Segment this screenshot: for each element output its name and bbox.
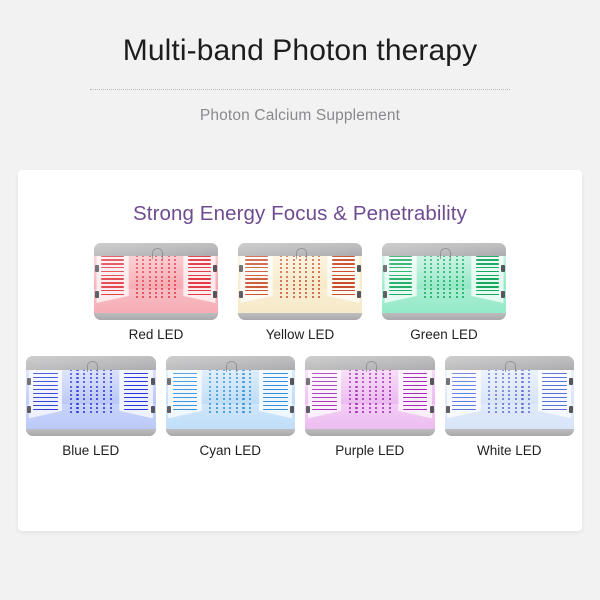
- header-divider: [90, 89, 510, 90]
- led-row-top: Red LEDYellow LEDGreen LED: [18, 243, 582, 342]
- right-wing-leds: [403, 369, 427, 410]
- led-variant-red[interactable]: Red LED: [94, 243, 218, 342]
- led-strip: [528, 364, 530, 413]
- device-base: [305, 429, 435, 436]
- hinge-nub: [151, 406, 155, 413]
- led-variant-label: Purple LED: [335, 443, 404, 458]
- led-strip: [216, 364, 218, 413]
- product-feature-page: Multi-band Photon therapy Photon Calcium…: [0, 0, 600, 600]
- led-strip: [355, 364, 357, 413]
- hinge-nub: [501, 291, 505, 298]
- feature-card: Strong Energy Focus & Penetrability Red …: [18, 170, 582, 531]
- hinge-nub: [501, 265, 505, 272]
- led-strip: [249, 364, 251, 413]
- hanging-hook-icon: [226, 361, 237, 372]
- hanging-hook-icon: [366, 361, 377, 372]
- led-device-image: [382, 243, 506, 320]
- led-strip: [168, 251, 170, 298]
- led-strip: [293, 251, 295, 298]
- led-strip: [223, 364, 225, 413]
- page-title: Multi-band Photon therapy: [0, 34, 600, 69]
- led-variant-label: White LED: [477, 443, 542, 458]
- hinge-nub: [430, 406, 434, 413]
- hinge-nub: [430, 378, 434, 385]
- hinge-nub: [569, 378, 573, 385]
- led-variant-label: Yellow LED: [266, 327, 335, 342]
- led-strip: [318, 251, 320, 298]
- page-subtitle: Photon Calcium Supplement: [0, 107, 600, 125]
- hanging-hook-icon: [296, 248, 307, 259]
- hanging-hook-icon: [440, 248, 451, 259]
- led-variant-label: Green LED: [410, 327, 478, 342]
- led-strip: [502, 364, 504, 413]
- hinge-nub: [95, 265, 99, 272]
- page-header: Multi-band Photon therapy Photon Calcium…: [0, 0, 600, 125]
- hinge-nub: [357, 291, 361, 298]
- led-strip: [142, 251, 144, 298]
- led-strip: [495, 364, 497, 413]
- led-device-image: [94, 243, 218, 320]
- hinge-nub: [290, 378, 294, 385]
- led-strip: [70, 364, 72, 413]
- device-base: [445, 429, 575, 436]
- hinge-nub: [357, 265, 361, 272]
- led-variant-yellow[interactable]: Yellow LED: [238, 243, 362, 342]
- left-wing-leds: [173, 369, 197, 410]
- hinge-nub: [290, 406, 294, 413]
- led-variant-purple[interactable]: Purple LED: [305, 356, 435, 458]
- device-base: [166, 429, 296, 436]
- led-variant-label: Cyan LED: [199, 443, 261, 458]
- led-strip: [242, 364, 244, 413]
- right-wing-leds: [542, 369, 566, 410]
- hinge-nub: [569, 406, 573, 413]
- hanging-hook-icon: [505, 361, 516, 372]
- left-wing-leds: [389, 255, 412, 295]
- led-device-image: [445, 356, 575, 436]
- hinge-nub: [213, 291, 217, 298]
- led-strip: [362, 364, 364, 413]
- hinge-nub: [446, 406, 450, 413]
- led-strip: [521, 364, 523, 413]
- left-wing-leds: [312, 369, 336, 410]
- led-strip: [103, 364, 105, 413]
- led-strip: [110, 364, 112, 413]
- led-device-image: [26, 356, 156, 436]
- led-variant-cyan[interactable]: Cyan LED: [166, 356, 296, 458]
- led-strip: [424, 251, 426, 298]
- led-device-image: [166, 356, 296, 436]
- hinge-nub: [151, 378, 155, 385]
- led-strip: [462, 251, 464, 298]
- hinge-nub: [239, 291, 243, 298]
- left-wing-leds: [101, 255, 124, 295]
- hinge-nub: [306, 378, 310, 385]
- hinge-nub: [95, 291, 99, 298]
- led-strip: [430, 251, 432, 298]
- led-strip: [488, 364, 490, 413]
- led-strip: [437, 251, 439, 298]
- hinge-nub: [239, 265, 243, 272]
- led-strip: [312, 251, 314, 298]
- led-strip: [209, 364, 211, 413]
- right-wing-leds: [124, 369, 148, 410]
- led-strip: [286, 251, 288, 298]
- led-variant-white[interactable]: White LED: [445, 356, 575, 458]
- hinge-nub: [383, 291, 387, 298]
- device-base: [238, 313, 362, 320]
- right-wing-leds: [263, 369, 287, 410]
- led-strip: [149, 251, 151, 298]
- led-strip: [76, 364, 78, 413]
- led-strip: [349, 364, 351, 413]
- hinge-nub: [446, 378, 450, 385]
- device-base: [26, 429, 156, 436]
- left-wing-leds: [452, 369, 476, 410]
- hinge-nub: [213, 265, 217, 272]
- right-wing-leds: [332, 255, 355, 295]
- card-heading: Strong Energy Focus & Penetrability: [18, 170, 582, 226]
- hinge-nub: [27, 378, 31, 385]
- led-strip: [280, 251, 282, 298]
- hanging-hook-icon: [87, 361, 98, 372]
- right-wing-leds: [188, 255, 211, 295]
- right-wing-leds: [476, 255, 499, 295]
- led-strip: [382, 364, 384, 413]
- led-strip: [456, 251, 458, 298]
- led-strip: [174, 251, 176, 298]
- led-variant-label: Red LED: [129, 327, 184, 342]
- led-variant-green[interactable]: Green LED: [382, 243, 506, 342]
- hinge-nub: [167, 406, 171, 413]
- hanging-hook-icon: [152, 248, 163, 259]
- hinge-nub: [306, 406, 310, 413]
- hinge-nub: [27, 406, 31, 413]
- hinge-nub: [383, 265, 387, 272]
- led-device-image: [305, 356, 435, 436]
- led-variant-blue[interactable]: Blue LED: [26, 356, 156, 458]
- led-row-bottom: Blue LEDCyan LEDPurple LEDWhite LED: [18, 356, 582, 458]
- hinge-nub: [167, 378, 171, 385]
- led-device-image: [238, 243, 362, 320]
- device-base: [94, 313, 218, 320]
- left-wing-leds: [245, 255, 268, 295]
- led-strip: [83, 364, 85, 413]
- led-strip: [136, 251, 138, 298]
- led-variant-label: Blue LED: [62, 443, 119, 458]
- device-base: [382, 313, 506, 320]
- led-strip: [389, 364, 391, 413]
- left-wing-leds: [33, 369, 57, 410]
